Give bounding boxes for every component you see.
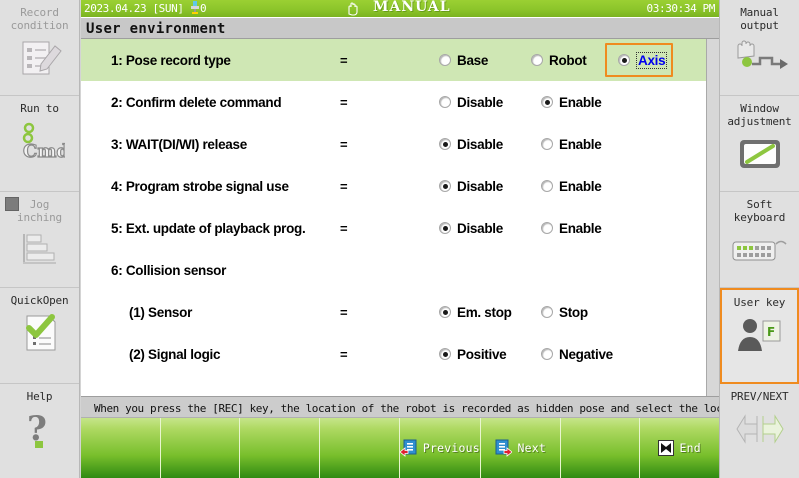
radio-option[interactable]: Disable xyxy=(439,137,503,152)
settings-content: 1: Pose record type=BaseRobotAxisUU2: Co… xyxy=(81,39,719,396)
radio-option[interactable]: Stop xyxy=(541,305,588,320)
radio-option[interactable]: Positive xyxy=(439,347,506,362)
page-title-bar: User environment xyxy=(81,17,719,39)
sidebar-item-label: Help xyxy=(0,390,79,403)
setting-label: 5: Ext. update of playback prog. xyxy=(111,221,305,236)
vertical-scrollbar[interactable] xyxy=(706,39,719,396)
radio-option-label: Positive xyxy=(457,347,506,362)
radio-option[interactable]: Enable xyxy=(541,137,601,152)
sidebar-item-record-condition[interactable]: Record condition xyxy=(0,0,79,96)
settings-rows: 1: Pose record type=BaseRobotAxisUU2: Co… xyxy=(81,39,706,375)
sidebar-item-label: User key xyxy=(722,296,797,309)
date-display: 2023.04.23 [SUN] xyxy=(84,0,184,17)
sidebar-item-manual-output[interactable]: Manual output xyxy=(720,0,799,96)
record-condition-icon xyxy=(0,36,79,80)
robot-teach-pendant-screen: Record condition Run to xyxy=(0,0,799,478)
setting-label: 6: Collision sensor xyxy=(111,263,226,278)
radio-button-icon[interactable] xyxy=(541,348,553,360)
message-text: When you press the [REC] key, the locati… xyxy=(94,402,719,415)
radio-button-icon[interactable] xyxy=(541,306,553,318)
next-page-icon xyxy=(494,439,512,457)
manual-output-icon xyxy=(720,36,799,80)
setting-row: 3: WAIT(DI/WI) release=DisableEnable xyxy=(81,123,706,165)
clock-display: 03:30:34 PM xyxy=(647,0,715,17)
setting-label: 4: Program strobe signal use xyxy=(111,179,289,194)
setting-label: 3: WAIT(DI/WI) release xyxy=(111,137,247,152)
radio-button-icon[interactable] xyxy=(531,54,543,66)
radio-button-icon[interactable] xyxy=(541,138,553,150)
radio-option-label: Em. stop xyxy=(457,305,512,320)
radio-option-label: Disable xyxy=(457,95,503,110)
radio-option-label: Base xyxy=(457,53,488,68)
setting-label: 2: Confirm delete command xyxy=(111,95,281,110)
radio-option-label: Disable xyxy=(457,179,503,194)
equals-sign: = xyxy=(340,347,348,362)
radio-option[interactable]: Enable xyxy=(541,179,601,194)
setting-row: (1) Sensor=Em. stopStop xyxy=(81,291,706,333)
sidebar-item-label: Run to xyxy=(0,102,79,115)
radio-option[interactable]: Enable xyxy=(541,95,601,110)
fkey-empty-4[interactable] xyxy=(320,418,400,478)
fkey-label: Previous xyxy=(423,441,480,455)
setting-row: 1: Pose record type=BaseRobotAxisUU xyxy=(81,39,706,81)
radio-button-icon[interactable] xyxy=(439,306,451,318)
fkey-label: Next xyxy=(517,441,546,455)
sidebar-item-prev-next[interactable]: PREV/NEXT xyxy=(720,384,799,476)
radio-option-label: Disable xyxy=(457,137,503,152)
sidebar-item-jog-inching[interactable]: Jog inching xyxy=(0,192,79,288)
radio-option-label: Enable xyxy=(559,179,601,194)
fkey-previous[interactable]: Previous xyxy=(400,418,481,478)
equals-sign: = xyxy=(340,221,348,236)
user-key-icon: F xyxy=(722,313,797,357)
operation-mode: MANUAL xyxy=(373,0,451,16)
sidebar-item-window-adjustment[interactable]: Window adjustment xyxy=(720,96,799,192)
radio-option[interactable]: Disable xyxy=(439,179,503,194)
prev-next-icon xyxy=(720,407,799,451)
previous-page-icon xyxy=(400,439,418,457)
fkey-empty-1[interactable] xyxy=(81,418,161,478)
setting-row: 5: Ext. update of playback prog.=Disable… xyxy=(81,207,706,249)
radio-option[interactable]: Base xyxy=(439,53,488,68)
sidebar-item-label: Window adjustment xyxy=(720,102,799,128)
setting-row: 4: Program strobe signal use=DisableEnab… xyxy=(81,165,706,207)
jog-inching-icon xyxy=(0,228,79,272)
radio-option[interactable]: Robot xyxy=(531,53,586,68)
equals-sign: = xyxy=(340,95,348,110)
radio-option-label: Robot xyxy=(549,53,586,68)
radio-button-icon[interactable] xyxy=(439,180,451,192)
radio-option-label: Axis xyxy=(636,52,667,69)
soft-keyboard-icon xyxy=(720,228,799,272)
radio-option[interactable]: Disable xyxy=(439,221,503,236)
status-topbar: 2023.04.23 [SUN] 0 MANUAL 03:30:34 PM xyxy=(81,0,719,17)
equals-sign: = xyxy=(340,179,348,194)
radio-option-label: Enable xyxy=(559,137,601,152)
radio-button-icon[interactable] xyxy=(439,96,451,108)
setting-label: 1: Pose record type xyxy=(111,53,231,68)
quickopen-icon xyxy=(0,311,79,355)
equals-sign: = xyxy=(340,137,348,152)
fkey-empty-7[interactable] xyxy=(561,418,641,478)
disabled-badge xyxy=(5,197,19,211)
help-question-icon: ? xyxy=(0,407,79,451)
radio-button-icon[interactable] xyxy=(541,222,553,234)
sidebar-item-label: Record condition xyxy=(0,6,79,32)
sidebar-item-quickopen[interactable]: QuickOpen xyxy=(0,288,79,384)
end-icon xyxy=(658,440,674,456)
radio-button-icon[interactable] xyxy=(618,54,630,66)
radio-button-icon[interactable] xyxy=(439,54,451,66)
setting-row: (2) Signal logic=PositiveNegative xyxy=(81,333,706,375)
equals-sign: = xyxy=(340,305,348,320)
radio-option[interactable]: Em. stop xyxy=(439,305,512,320)
equals-sign: = xyxy=(340,53,348,68)
radio-option-label: Stop xyxy=(559,305,588,320)
message-bar: When you press the [REC] key, the locati… xyxy=(81,396,719,418)
window-adjustment-icon xyxy=(720,132,799,176)
sidebar-item-help[interactable]: Help ? xyxy=(0,384,79,476)
radio-option-label: Disable xyxy=(457,221,503,236)
tool-number: 0 xyxy=(200,0,207,17)
right-sidebar: Manual output Window adjustment xyxy=(719,0,799,478)
svg-text:Cmd: Cmd xyxy=(23,141,65,162)
radio-option-label: Enable xyxy=(559,95,601,110)
fkey-next[interactable]: Next xyxy=(481,418,561,478)
radio-button-icon[interactable] xyxy=(541,96,553,108)
fkey-end[interactable]: End xyxy=(640,418,719,478)
svg-text:F: F xyxy=(767,325,775,339)
sidebar-item-label: PREV/NEXT xyxy=(720,390,799,403)
fkey-empty-2[interactable] xyxy=(161,418,241,478)
settings-viewport: 1: Pose record type=BaseRobotAxisUU2: Co… xyxy=(81,39,706,396)
radio-option-label: Negative xyxy=(559,347,613,362)
sidebar-item-run-to[interactable]: Run to Cmd xyxy=(0,96,79,192)
function-key-bar: PreviousNextEnd xyxy=(81,418,719,478)
run-to-cmd-icon: Cmd xyxy=(0,119,79,163)
hand-icon xyxy=(345,1,360,21)
setting-label: (2) Signal logic xyxy=(129,347,220,362)
setting-label: (1) Sensor xyxy=(129,305,192,320)
radio-button-icon[interactable] xyxy=(439,138,451,150)
radio-button-icon[interactable] xyxy=(541,180,553,192)
radio-option[interactable]: Enable xyxy=(541,221,601,236)
sidebar-item-label: Soft keyboard xyxy=(720,198,799,224)
radio-option[interactable]: Negative xyxy=(541,347,613,362)
setting-row: 6: Collision sensor xyxy=(81,249,706,291)
sidebar-item-user-key[interactable]: User key F xyxy=(720,288,799,384)
radio-option-label: Enable xyxy=(559,221,601,236)
radio-button-icon[interactable] xyxy=(439,348,451,360)
sidebar-item-label: QuickOpen xyxy=(0,294,79,307)
sidebar-item-label: Manual output xyxy=(720,6,799,32)
left-sidebar: Record condition Run to xyxy=(0,0,80,478)
fkey-label: End xyxy=(679,441,700,455)
setting-row: 2: Confirm delete command=DisableEnable xyxy=(81,81,706,123)
fkey-empty-3[interactable] xyxy=(240,418,320,478)
sidebar-item-soft-keyboard[interactable]: Soft keyboard xyxy=(720,192,799,288)
page-title: User environment xyxy=(86,21,226,37)
main-panel: 2023.04.23 [SUN] 0 MANUAL 03:30:34 PM Us… xyxy=(81,0,719,478)
radio-option[interactable]: Disable xyxy=(439,95,503,110)
radio-button-icon[interactable] xyxy=(439,222,451,234)
radio-option[interactable]: Axis xyxy=(618,52,667,69)
